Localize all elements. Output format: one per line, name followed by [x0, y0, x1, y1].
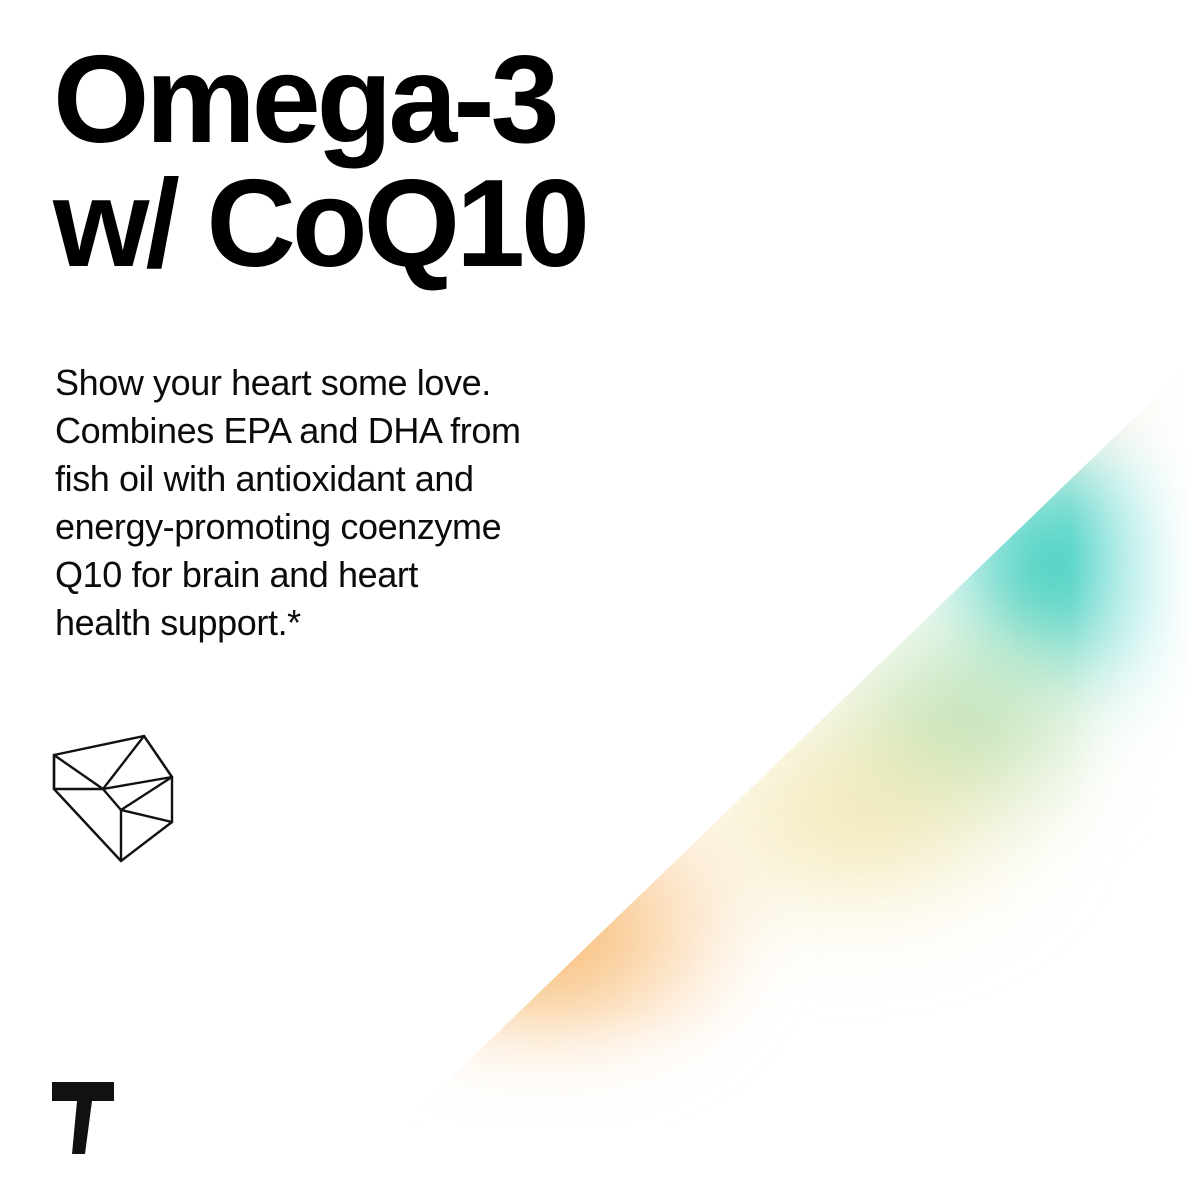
t-wordmark-icon: [52, 1082, 114, 1154]
gem-wireframe-icon: [48, 722, 188, 867]
product-title: Omega-3 w/ CoQ10: [53, 38, 813, 286]
product-description: Show your heart some love. Combines EPA …: [55, 359, 655, 647]
card-content: Omega-3 w/ CoQ10 Show your heart some lo…: [0, 0, 1200, 1200]
product-card: Omega-3 w/ CoQ10 Show your heart some lo…: [0, 0, 1200, 1200]
